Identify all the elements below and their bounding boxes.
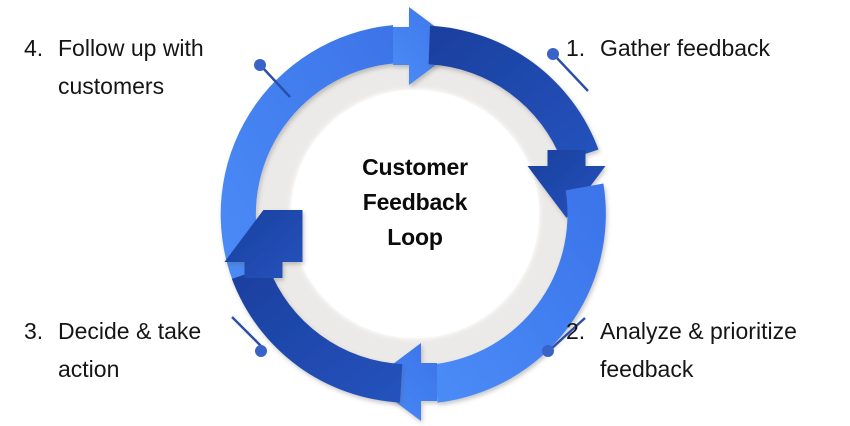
step-text-2-line-1: Analyze & prioritize [600, 318, 797, 344]
step-text-4-line-1: Follow up with [58, 35, 204, 61]
center-title-line-1: Customer [325, 150, 505, 185]
step-label-2: 2.Analyze & prioritizefeedback [566, 312, 797, 388]
step-label-3: 3.Decide & takeaction [24, 312, 201, 388]
leader-dot-3 [255, 345, 267, 357]
step-text-1-line-1: Gather feedback [600, 35, 770, 61]
step-label-1: 1.Gather feedback [566, 29, 770, 67]
step-number-2: 2. [566, 312, 600, 350]
step-text-3-line-1: Decide & take [58, 318, 201, 344]
step-label-4: 4.Follow up withcustomers [24, 29, 204, 105]
step-text-3-line-2: action [58, 356, 119, 382]
center-title: Customer Feedback Loop [325, 150, 505, 255]
step-number-1: 1. [566, 29, 600, 67]
leader-dot-2 [542, 345, 554, 357]
center-title-line-2: Feedback [325, 185, 505, 220]
step-text-4-line-2: customers [58, 73, 164, 99]
step-number-3: 3. [24, 312, 58, 350]
step-number-4: 4. [24, 29, 58, 67]
center-title-line-3: Loop [325, 220, 505, 255]
diagram-canvas: Customer Feedback Loop 1.Gather feedback… [0, 0, 850, 426]
leader-dot-4 [254, 59, 266, 71]
step-text-2-line-2: feedback [600, 356, 693, 382]
leader-dot-1 [547, 48, 559, 60]
